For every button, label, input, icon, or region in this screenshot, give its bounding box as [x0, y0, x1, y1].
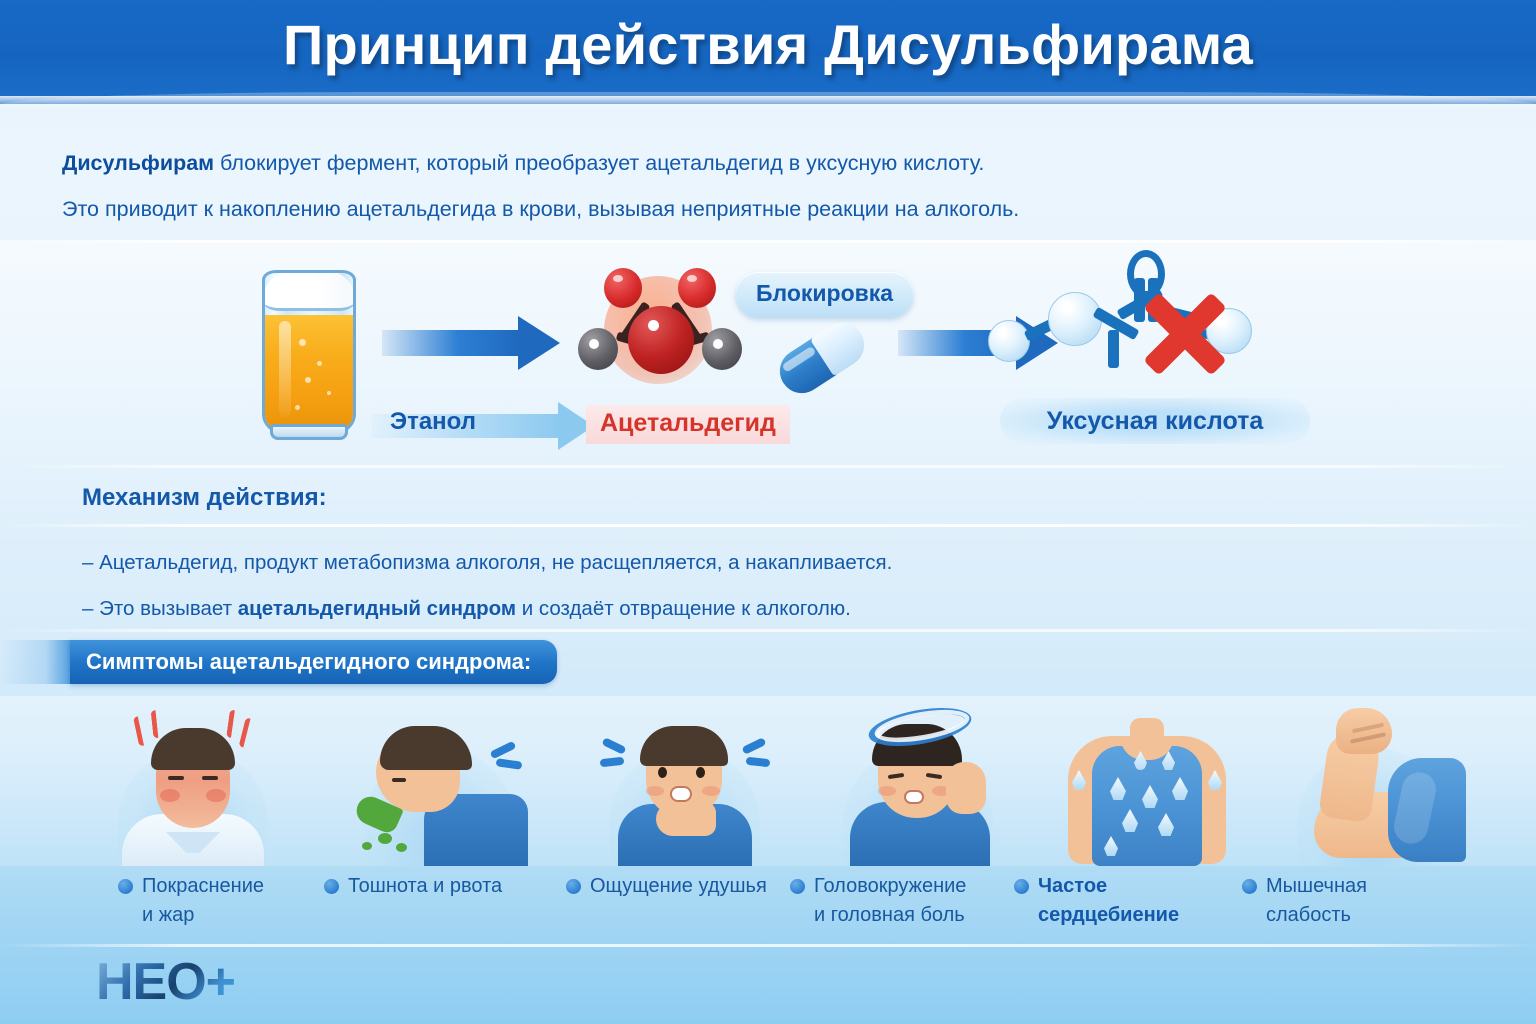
beer-foam: [263, 270, 355, 311]
bullet-dot-icon: [118, 879, 133, 894]
flexed-arm-icon: [1280, 698, 1466, 866]
symptom-0-line2: и жар: [142, 904, 194, 926]
symptoms-figure-strip: [0, 696, 1536, 866]
infographic-poster: Принцип действия Дисульфирама Дисульфира…: [0, 0, 1536, 1024]
panel-divider-bottom: [0, 465, 1536, 468]
beer-liquid: [265, 315, 353, 433]
symptom-3-line2: и головная боль: [814, 904, 965, 926]
page-title: Принцип действия Дисульфирама: [0, 12, 1536, 77]
vomiting-person-icon: [350, 698, 530, 866]
mechanism-item-2-pre: – Это вызывает: [82, 597, 238, 620]
symptom-label-0: Покраснение и жар: [118, 872, 318, 930]
beer-glass-icon: [254, 256, 364, 438]
symptom-label-text-1: Тошнота и рвота: [348, 872, 502, 901]
symptom-4-line2: сердцебиение: [1038, 904, 1179, 926]
arrow-ethanol-to-acetaldehyde-icon: [382, 316, 560, 370]
symptom-label-1: Тошнота и рвота: [324, 872, 544, 901]
panel-divider-top: [0, 240, 1536, 243]
symptom-labels: Покраснение и жар Тошнота и рвота Ощущен…: [0, 872, 1536, 950]
intro-bold-term: Дисульфирам: [62, 151, 214, 175]
mechanism-list: – Ацетальдегид, продукт метабопизма алко…: [82, 540, 892, 632]
flushed-face-icon: [108, 698, 278, 866]
beer-glass-body: [262, 270, 356, 436]
bullet-dot-icon: [1242, 879, 1257, 894]
label-acetic-acid: Уксусная кислота: [1000, 407, 1310, 436]
beer-glass-base: [270, 424, 348, 440]
symptom-label-text-2: Ощущение удушья: [590, 872, 767, 901]
mechanism-title: Механизм действия:: [82, 484, 327, 512]
mechanism-divider: [0, 524, 1536, 527]
red-x-block-icon: [1144, 290, 1232, 378]
intro-line-1-rest: блокирует фермент, который преобразует а…: [214, 151, 984, 175]
acetaldehyde-molecule-icon: [566, 258, 756, 398]
poster-header: Принцип действия Дисульфирама: [0, 0, 1536, 104]
bullet-dot-icon: [1014, 879, 1029, 894]
mechanism-item-1: – Ацетальдегид, продукт метабопизма алко…: [82, 540, 892, 586]
mechanism-divider-bottom: [0, 629, 1536, 632]
intro-line-2: Это приводит к накоплению ацетальдегида …: [62, 186, 1362, 232]
symptom-label-text-0: Покраснение и жар: [142, 872, 264, 930]
blocking-badge: Блокировка: [736, 272, 913, 317]
bullet-dot-icon: [324, 879, 339, 894]
symptom-5-line2: слабость: [1266, 904, 1351, 926]
symptom-label-text-5: Мышечная слабость: [1266, 872, 1367, 930]
symptom-label-2: Ощущение удушья: [566, 872, 796, 901]
acetic-acid-molecule-icon: [988, 256, 1278, 406]
bullet-dot-icon: [790, 879, 805, 894]
bullet-dot-icon: [566, 879, 581, 894]
symptom-label-text-3: Головокружение и головная боль: [814, 872, 966, 930]
intro-line-1: Дисульфирам блокирует фермент, который п…: [62, 140, 1362, 186]
choking-person-icon: [600, 698, 770, 866]
symptom-label-text-4: Частое сердцебиение: [1038, 872, 1179, 930]
symptom-0-line1: Покраснение: [142, 875, 264, 897]
sweating-torso-icon: [1058, 698, 1236, 866]
symptom-3-line1: Головокружение: [814, 875, 966, 897]
footer-divider: [0, 944, 1536, 947]
symptoms-header-fade: [0, 640, 76, 684]
mechanism-item-2-bold: ацетальдегидный синдром: [238, 597, 516, 620]
symptom-5-line1: Мышечная: [1266, 875, 1367, 897]
label-ethanol: Этанол: [390, 408, 476, 436]
blocking-badge-label: Блокировка: [756, 280, 893, 306]
symptoms-header-label: Симптомы ацетальдегидного синдрома:: [86, 649, 531, 675]
header-sheen: [0, 96, 1536, 108]
intro-text: Дисульфирам блокирует фермент, который п…: [62, 140, 1362, 232]
mechanism-item-2: – Это вызывает ацетальдегидный синдром и…: [82, 586, 892, 632]
brand-logo: НЕО+: [96, 952, 235, 1012]
symptom-4-line1: Частое: [1038, 875, 1107, 897]
symptom-label-4: Частое сердцебиение: [1014, 872, 1224, 930]
mechanism-item-2-post: и создаёт отвращение к алкоголю.: [516, 597, 851, 620]
symptom-label-5: Мышечная слабость: [1242, 872, 1442, 930]
symptoms-header: Симптомы ацетальдегидного синдрома:: [70, 640, 557, 684]
symptom-label-3: Головокружение и головная боль: [790, 872, 1010, 930]
label-acetaldehyde: Ацетальдегид: [586, 405, 790, 444]
mechanism-section: Механизм действия: – Ацетальдегид, проду…: [0, 472, 1536, 634]
dizzy-person-icon: [828, 698, 1008, 866]
